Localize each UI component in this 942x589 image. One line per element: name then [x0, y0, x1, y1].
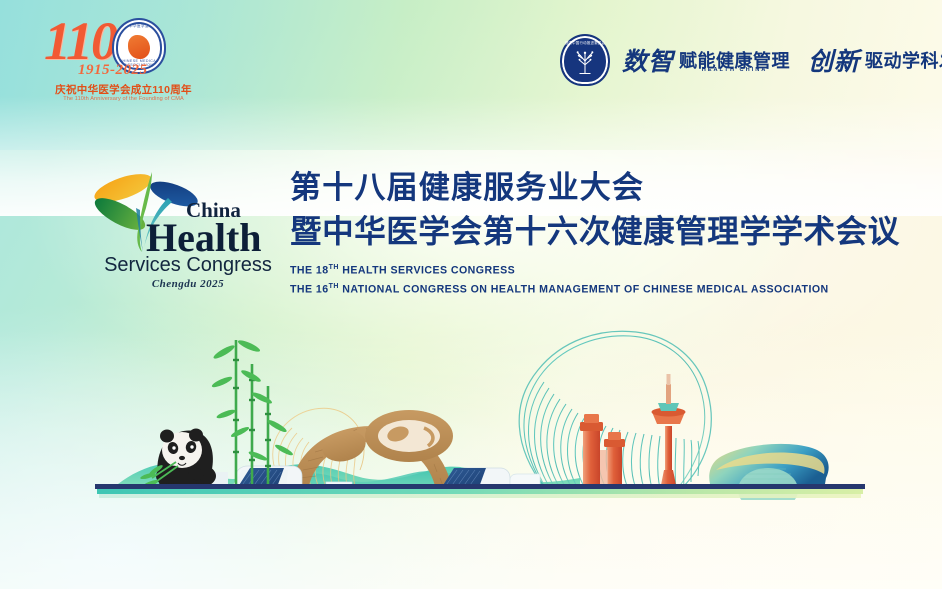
slogan-part1-big: 数智: [622, 42, 674, 78]
twin-orange-towers: [580, 414, 625, 490]
slogan-part2-big: 创新: [808, 42, 860, 78]
anniversary-years: 1915-2025: [78, 62, 190, 80]
cma-110th-anniversary-logo: 110 中华医学会 CHINESE MEDICAL ASSOCIATION 19…: [36, 12, 211, 104]
slogan-part1-mid: 赋能健康管理 HEALTH CHINA: [679, 47, 790, 73]
slogan-part2-mid: 驱动学科发展: [865, 47, 942, 73]
seal-top-text: 中华医学会: [114, 24, 164, 29]
skyline-svg: [0, 300, 942, 500]
reflection-svg: [0, 498, 942, 589]
chengdu-tv-tower: [652, 374, 686, 490]
anniversary-chinese-caption: 庆祝中华医学会成立110周年: [36, 82, 211, 97]
china-health-services-congress-logo: China Health Services Congress Chengdu 2…: [88, 168, 280, 296]
health-china-emblem-icon: 健康中国行动推进委员会: [560, 34, 610, 86]
sub-title-english-post: NATIONAL CONGRESS ON HEALTH MANAGEMENT O…: [339, 283, 829, 295]
slogan-text: 数智 赋能健康管理 HEALTH CHINA 创新 驱动学科发展: [622, 42, 942, 78]
main-title-english-post: HEALTH SERVICES CONGRESS: [339, 265, 515, 277]
chengdu-skyline-illustration: [0, 300, 942, 500]
ground-bar: [95, 484, 865, 498]
title-block: 第十八届健康服务业大会 暨中华医学会第十六次健康管理学学术会议 THE 18TH…: [290, 168, 910, 297]
main-title-english-pre: THE 18: [290, 265, 329, 277]
main-title-english-sup: TH: [329, 264, 339, 271]
main-title-english: THE 18TH HEALTH SERVICES CONGRESS: [290, 260, 910, 279]
water-reflection: [0, 498, 942, 589]
anniversary-english-caption: The 110th Anniversary of the Founding of…: [36, 96, 211, 102]
emblem-arc-text: 健康中国行动推进委员会: [562, 40, 608, 45]
main-title-chinese: 第十八届健康服务业大会: [290, 168, 910, 208]
sub-title-chinese: 暨中华医学会第十六次健康管理学学术会议: [290, 210, 910, 252]
sub-title-english-pre: THE 16: [290, 283, 329, 295]
slogan-block: 健康中国行动推进委员会 数智: [560, 34, 942, 86]
conference-poster: 110 中华医学会 CHINESE MEDICAL ASSOCIATION 19…: [0, 0, 942, 589]
slogan-health-china: HEALTH CHINA: [679, 67, 790, 73]
sub-title-english-sup: TH: [329, 283, 339, 290]
tree-icon: [574, 50, 596, 74]
logo-text-city-year: Chengdu 2025: [92, 278, 284, 290]
logo-text-services-congress: Services Congress: [92, 254, 284, 277]
seal-emblem-icon: [128, 35, 150, 59]
sub-title-english: THE 16TH NATIONAL CONGRESS ON HEALTH MAN…: [290, 279, 910, 298]
